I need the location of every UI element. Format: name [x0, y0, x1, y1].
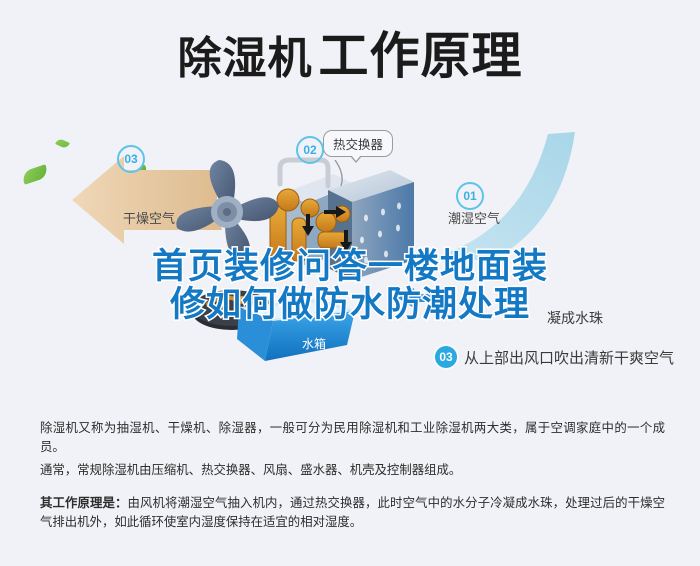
article-body: 除湿机又称为抽湿机、干燥机、除湿器，一般可分为民用除湿机和工业除湿机两大类，属于…: [40, 418, 665, 535]
label-moist-air: 潮湿空气: [448, 208, 500, 227]
article-paragraph-1-line-1: 除湿机又称为抽湿机、干燥机、除湿器，一般可分为民用除湿机和工业除湿机两大类，属于…: [40, 418, 665, 456]
water-tank-icon: [235, 295, 360, 370]
callout-stem-icon: [333, 160, 347, 186]
step-badge-01: 01: [456, 182, 484, 210]
label-water-tank: 水箱: [302, 335, 326, 352]
dehumidifier-diagram: 热交换器 03 02 01 干燥空气 潮湿空气 凝成水珠 水箱 03 从上部出风…: [0, 120, 700, 400]
article-paragraph-2-rest: 由风机将潮湿空气抽入机内，通过热交换器，此时空气中的水分子冷凝成水珠，处理过后的…: [40, 495, 665, 529]
title-part-principle: 工作原理: [319, 27, 523, 85]
fan-blades-icon: [165, 150, 295, 270]
page-root: 除湿机工作原理: [0, 0, 700, 566]
article-paragraph-2: 其工作原理是：由风机将潮湿空气抽入机内，通过热交换器，此时空气中的水分子冷凝成水…: [40, 493, 665, 531]
article-paragraph-1-line-2: 通常，常规除湿机由压缩机、热交换器、风扇、盛水器、机壳及控制器组成。: [40, 460, 665, 479]
paragraph-spacer: [40, 483, 665, 493]
page-title: 除湿机工作原理: [0, 30, 700, 83]
step-badge-03: 03: [117, 145, 145, 173]
label-condensate: 凝成水珠: [547, 308, 603, 328]
label-dry-air: 干燥空气: [123, 208, 175, 227]
heat-exchanger-callout: 热交换器: [323, 130, 393, 157]
title-part-dehumidifier: 除湿机: [178, 33, 313, 84]
diagram-legend-row: 03 从上部出风口吹出清新干爽空气: [435, 346, 674, 368]
article-paragraph-2-lead: 其工作原理是：: [40, 495, 128, 510]
legend-text: 从上部出风口吹出清新干爽空气: [464, 347, 674, 368]
step-badge-02: 02: [296, 136, 324, 164]
leaf-icon: [55, 138, 70, 150]
legend-badge-03: 03: [435, 346, 457, 368]
leaf-icon: [21, 164, 50, 184]
